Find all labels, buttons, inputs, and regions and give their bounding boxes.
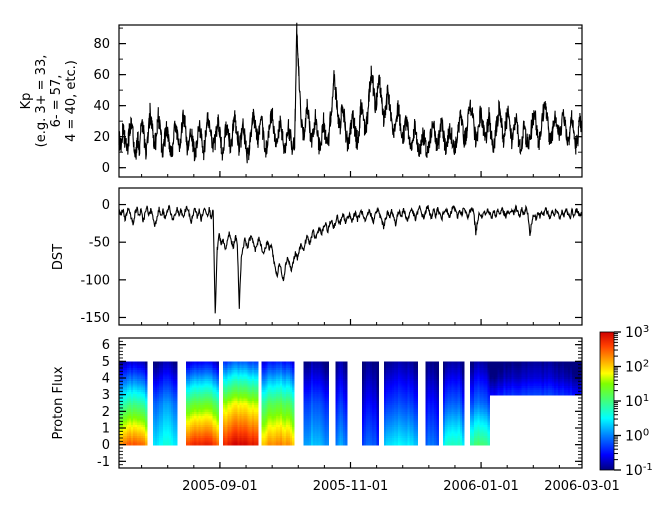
multi-panel-space-weather-figure: 020406080 Kp(e.g. 3+ = 33,6- = 57,4 = 40…	[0, 0, 665, 523]
y-tick-label: 1	[102, 422, 110, 437]
figure-canvas: 020406080 Kp(e.g. 3+ = 33,6- = 57,4 = 40…	[0, 0, 665, 523]
dst-y-tick-labels: 0-50-100-150	[80, 198, 110, 326]
colorbar-ticks	[614, 332, 621, 470]
y-tick-label: 0	[102, 161, 110, 176]
y-tick-label: 4	[102, 372, 110, 387]
colorbar-tick-label: 103	[625, 324, 649, 342]
y-tick-label: 6	[102, 338, 110, 353]
y-tick-label: 0	[102, 198, 110, 213]
y-tick-label: 0	[102, 438, 110, 453]
x-axis-tick-labels: 2005-09-012005-11-012006-01-012006-03-01	[182, 479, 620, 494]
colorbar-tick-label: 102	[625, 358, 649, 376]
y-tick-label: 40	[93, 99, 110, 114]
y-tick-label: 5	[102, 355, 110, 370]
kp-axis-title: Kp(e.g. 3+ = 33,6- = 57,4 = 40, etc.)	[19, 55, 79, 148]
kp-panel: 020406080 Kp(e.g. 3+ = 33,6- = 57,4 = 40…	[19, 23, 582, 177]
proton-flux-y-tick-labels: -10123456	[97, 338, 110, 470]
x-tick-label: 2006-03-01	[544, 479, 620, 494]
x-tick-label: 2005-11-01	[313, 479, 389, 494]
proton-flux-axis-title: Proton Flux	[51, 366, 66, 439]
kp-panel-frame	[119, 25, 582, 177]
colorbar-tick-label: 101	[625, 393, 649, 411]
kp-y-tick-labels: 020406080	[93, 37, 110, 176]
colorbar-tick-labels: 10-1100101102103	[625, 324, 653, 480]
kp-axis-title-text: Kp(e.g. 3+ = 33,6- = 57,4 = 40, etc.)	[19, 55, 79, 148]
colorbar: 10-1100101102103	[600, 324, 653, 480]
colorbar-gradient	[600, 332, 614, 470]
y-tick-label: -100	[80, 273, 110, 288]
y-tick-label: -150	[80, 311, 110, 326]
dst-axis-title: DST	[51, 244, 66, 270]
y-tick-label: -50	[89, 236, 110, 251]
x-tick-label: 2005-09-01	[182, 479, 258, 494]
y-tick-label: 60	[93, 68, 110, 83]
dst-panel: 0-50-100-150 DST	[51, 188, 582, 326]
y-tick-label: -1	[97, 455, 110, 470]
colorbar-tick-label: 10-1	[625, 462, 653, 480]
x-tick-label: 2006-01-01	[443, 479, 519, 494]
colorbar-tick-label: 100	[625, 427, 649, 445]
y-tick-label: 20	[93, 130, 110, 145]
y-tick-label: 80	[93, 37, 110, 52]
y-tick-label: 3	[102, 388, 110, 403]
proton-flux-panel: -10123456 Proton Flux 2005-09-012005-11-…	[51, 338, 620, 494]
dst-panel-frame	[119, 188, 582, 325]
y-tick-label: 2	[102, 405, 110, 420]
